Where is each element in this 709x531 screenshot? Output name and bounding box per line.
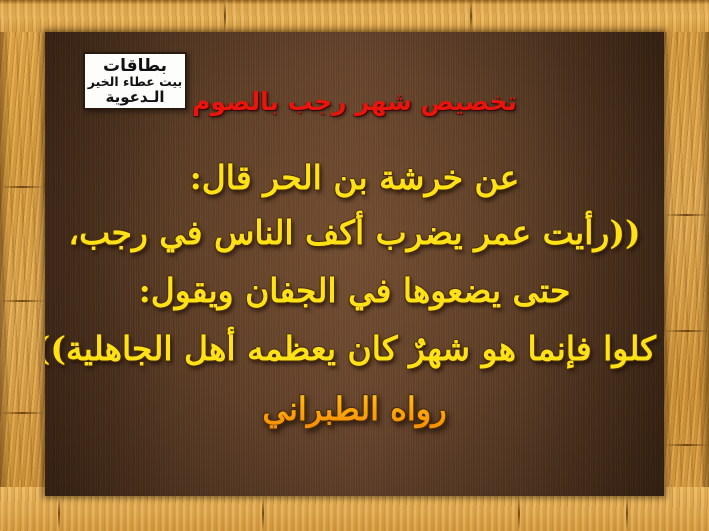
plank-seam (224, 0, 226, 32)
plank-seam (262, 496, 264, 531)
islamic-card: بطاقات بيت عطاء الخير الـدعوية تخصيص شهر… (0, 0, 709, 531)
hadith-line-4: كلوا فإنما هو شهرٌ كان يعظمه أهل الجاهلي… (53, 320, 656, 378)
plank-seam (0, 300, 45, 302)
hadith-line-1: عن خرشة بن الحر قال: (53, 152, 656, 204)
plank-seam (518, 496, 520, 531)
plank-seam (664, 330, 709, 332)
logo-line-1: بطاقات (103, 57, 167, 75)
plank-seam (58, 496, 60, 531)
plank-seam (0, 186, 45, 188)
plank-seam (470, 0, 472, 32)
hadith-body: عن خرشة بن الحر قال: ((رأيت عمر يضرب أكف… (53, 152, 656, 440)
plank-seam (0, 412, 45, 414)
plank-seam (664, 214, 709, 216)
hadith-narrator: رواه الطبراني (53, 378, 656, 440)
hadith-line-3: حتى يضعوها في الجفان ويقول: (53, 262, 656, 320)
hadith-line-2: ((رأيت عمر يضرب أكف الناس في رجب، (53, 204, 656, 262)
card-title: تخصيص شهر رجب بالصوم (45, 87, 664, 116)
plank-seam (664, 444, 709, 446)
wood-frame-top-rail (0, 0, 709, 32)
content-panel: بطاقات بيت عطاء الخير الـدعوية تخصيص شهر… (45, 32, 664, 496)
plank-seam (626, 496, 628, 531)
